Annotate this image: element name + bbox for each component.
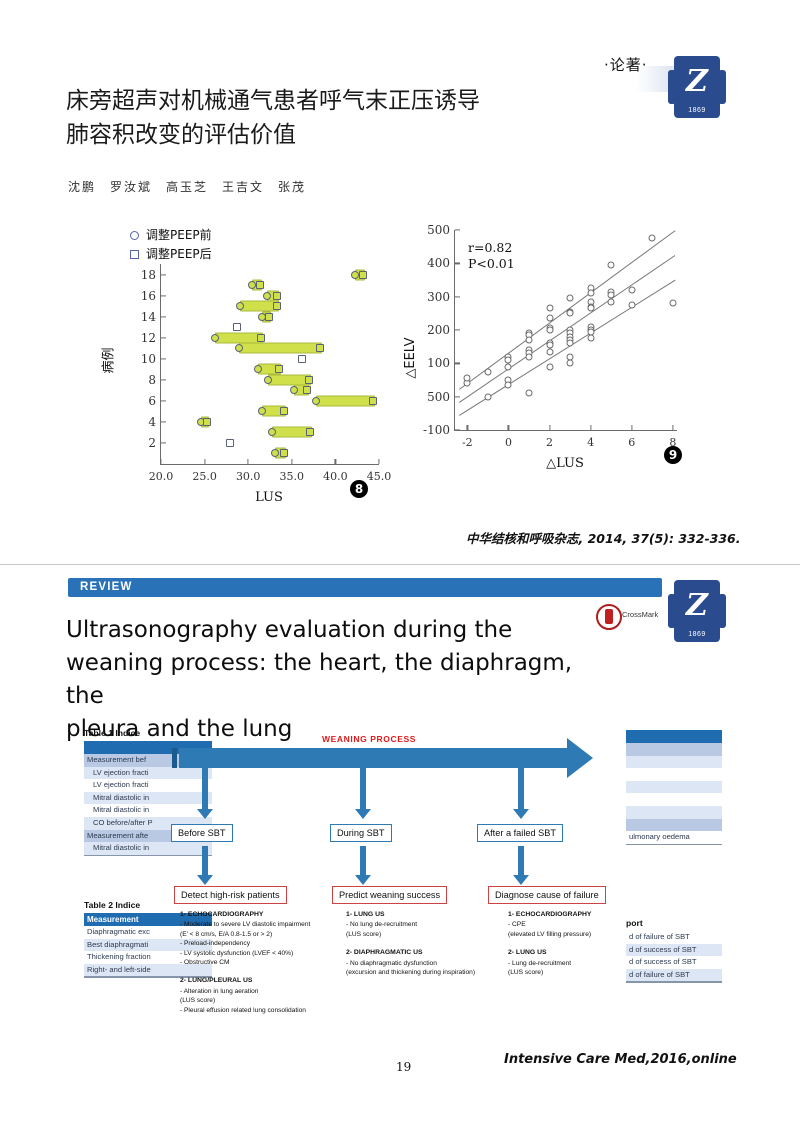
figure-8-ytick: 18 (141, 268, 161, 282)
figure-8-ytick: 16 (141, 289, 161, 303)
crossmark-badge[interactable]: CrossMark (596, 604, 666, 628)
down-arrow-5-icon (360, 846, 366, 876)
figure-8-ytick: 8 (148, 373, 161, 387)
figure-8-ytick: 2 (148, 436, 161, 450)
figure-9-data-point (505, 382, 512, 389)
figure-9-data-point (526, 337, 533, 344)
detail-line: - No diaphragmatic dysfunction (346, 959, 514, 968)
article-title: 床旁超声对机械通气患者呼气末正压诱导 肺容积改变的评估价值 (66, 84, 626, 152)
detail-column-3: 1- ECHOCARDIOGRAPHY- CPE(elevated LV fil… (508, 910, 628, 977)
stage-box-after-failed-sbt[interactable]: After a failed SBT (477, 824, 563, 842)
figure-8: 调整PEEP前 调整PEEP后 病例 2468101214161820.025.… (100, 218, 400, 514)
table-4-row: d of success of SBT (626, 956, 722, 969)
figure-9-ytick-mark (455, 396, 460, 397)
table-3-row (626, 781, 722, 794)
figure-9-r-value: r=0.82 (468, 240, 515, 256)
down-arrow-4-icon (202, 846, 208, 876)
figure-8-pair-bar (316, 395, 375, 406)
detail-heading: 1- ECHOCARDIOGRAPHY (180, 910, 340, 919)
detail-heading: 2- LUNG US (508, 948, 628, 957)
table-1-rule (84, 855, 212, 856)
figure-8-point-after (257, 334, 265, 342)
figure-8-point-after (226, 439, 234, 447)
page-number: 19 (396, 1060, 411, 1074)
table-3-clipped: ulmonary oedema (626, 730, 722, 845)
review-badge: REVIEW (68, 578, 662, 597)
figure-8-point-after (233, 323, 241, 331)
figure-9-data-point (546, 348, 553, 355)
figure-8-xtick: 30.0 (236, 464, 261, 483)
arrow-head-icon (567, 738, 593, 778)
figure-9-xtick-mark (549, 425, 550, 430)
figure-8-xtick-mark (160, 459, 161, 464)
figure-8-number: 8 (350, 480, 368, 498)
table-3-row (626, 793, 722, 806)
figure-8-point-after (280, 449, 288, 457)
figure-9: 500400300200100500-100-202468 r=0.82 P<0… (396, 218, 700, 514)
figure-8-ytick-mark (161, 358, 166, 359)
square-marker-icon (130, 250, 139, 259)
table-4-clipped: portd of failure of SBTd of success of S… (626, 918, 722, 983)
figure-8-point-after (298, 355, 306, 363)
figure-9-data-point (587, 290, 594, 297)
figure-9-ytick: 400 (427, 256, 455, 270)
figure-9-ytick-mark (455, 429, 460, 430)
down-arrow-6-icon (518, 846, 524, 876)
figure-9-xtick: 0 (505, 430, 512, 449)
figure-8-xtick-mark (378, 459, 379, 464)
figure-8-xtick-mark (291, 459, 292, 464)
detail-line: - Pleural effusion related lung consolid… (180, 1006, 340, 1015)
arrow-tail (172, 748, 177, 768)
figure-8-ytick: 10 (141, 352, 161, 366)
detail-line: - No lung de-recruitment (346, 920, 514, 929)
figure-8-point-before (271, 449, 279, 457)
table-1-row: Mitral diastolic in (84, 804, 212, 817)
article-authors: 沈鹏 罗汝斌 高玉芝 王吉文 张茂 (68, 178, 306, 195)
figure-8-point-before (211, 334, 219, 342)
figure-8-point-after (316, 344, 324, 352)
figure-9-data-point (546, 305, 553, 312)
figure-8-point-after (306, 428, 314, 436)
figure-9-data-point (649, 235, 656, 242)
figure-9-data-point (546, 315, 553, 322)
arrow-tip-icon (513, 809, 529, 819)
figure-9-data-point (567, 295, 574, 302)
figure-9-data-point (567, 340, 574, 347)
table-1-row: LV ejection fracti (84, 779, 212, 792)
weaning-process-label: WEANING PROCESS (322, 734, 416, 744)
table-3-row: ulmonary oedema (626, 831, 722, 844)
figure-9-ytick: 200 (427, 323, 455, 337)
detail-heading: 1- LUNG US (346, 910, 514, 919)
figure-9-data-point (628, 287, 635, 294)
figure-9-xtick-mark (467, 425, 468, 430)
detail-line: (E' < 8 cm/s, E/A 0.8-1.5 or > 2) (180, 930, 340, 939)
figure-8-xtick-mark (335, 459, 336, 464)
figure-8-ytick: 4 (148, 415, 161, 429)
detail-line: - CPE (508, 920, 628, 929)
page-root: ·论著· Z 1869 床旁超声对机械通气患者呼气末正压诱导 肺容积改变的评估价… (0, 0, 800, 1131)
legend-item-before: 调整PEEP前 (130, 226, 212, 245)
review-title: Ultrasonography evaluation during the we… (66, 614, 586, 746)
article-citation: 中华结核和呼吸杂志, 2014, 37(5): 332-336. (466, 528, 740, 547)
goal-box-detect-high-risk[interactable]: Detect high-risk patients (174, 886, 287, 904)
table-1-row: Mitral diastolic in (84, 792, 212, 805)
article-title-line2: 肺容积改变的评估价值 (66, 118, 626, 152)
stage-box-during-sbt[interactable]: During SBT (330, 824, 392, 842)
figure-9-xtick-mark (508, 425, 509, 430)
arrow-tip-icon (513, 875, 529, 885)
logo-letter-icon: Z (674, 584, 720, 628)
figure-8-point-before (351, 271, 359, 279)
figure-9-data-point (484, 368, 491, 375)
table-1-caption: Table 1 Indice (84, 728, 212, 738)
figure-9-data-point (526, 390, 533, 397)
figure-9-p-value: P<0.01 (468, 256, 515, 272)
figure-8-point-before (312, 397, 320, 405)
figure-9-ylabel: △EELV (403, 338, 418, 379)
figure-8-legend: 调整PEEP前 调整PEEP后 (130, 226, 212, 264)
goal-box-diagnose-failure[interactable]: Diagnose cause of failure (488, 886, 606, 904)
figure-8-xlabel: LUS (160, 490, 378, 505)
figure-9-data-point (608, 262, 615, 269)
figure-8-xtick: 25.0 (192, 464, 217, 483)
figure-8-point-before (236, 302, 244, 310)
figure-9-xtick: 2 (546, 430, 553, 449)
review-title-line2: weaning process: the heart, the diaphrag… (66, 647, 586, 713)
detail-spacer (180, 967, 340, 976)
figure-8-plot-area: 2468101214161820.025.030.035.040.045.0 (160, 264, 379, 465)
detail-line: - Preload-independency (180, 939, 340, 948)
arrow-tip-icon (197, 809, 213, 819)
figure-8-point-after (359, 271, 367, 279)
figure-8-point-after (305, 376, 313, 384)
section-divider (0, 564, 800, 565)
figure-8-point-before (264, 376, 272, 384)
figure-9-ytick: 100 (427, 356, 455, 370)
logo-letter-icon: Z (674, 60, 720, 104)
detail-spacer (346, 939, 514, 948)
table-3-row (626, 819, 722, 832)
figure-9-data-point (484, 393, 491, 400)
figure-8-point-before (254, 365, 262, 373)
stage-box-before-sbt[interactable]: Before SBT (171, 824, 233, 842)
figure-9-xtick-mark (631, 425, 632, 430)
detail-heading: 2- LUNG/PLEURAL US (180, 976, 340, 985)
crossmark-inner-icon (605, 609, 613, 624)
detail-spacer (508, 939, 628, 948)
detail-heading: 1- ECHOCARDIOGRAPHY (508, 910, 628, 919)
detail-line: - Alteration in lung aeration (180, 987, 340, 996)
figure-8-pair-bar (239, 343, 321, 354)
logo-year: 1869 (674, 107, 720, 114)
figure-8-point-after (369, 397, 377, 405)
figure-8-point-after (275, 365, 283, 373)
figure-8-ytick: 6 (148, 394, 161, 408)
detail-column-1: 1- ECHOCARDIOGRAPHY- Moderate to severe … (180, 910, 340, 1015)
detail-line: (excursion and thickening during inspira… (346, 968, 514, 977)
table-3-rule (626, 844, 722, 845)
figure-8-point-after (273, 292, 281, 300)
detail-line: (LUS score) (508, 968, 628, 977)
arrow-tip-icon (355, 875, 371, 885)
figures-container: 调整PEEP前 调整PEEP后 病例 2468101214161820.025.… (100, 218, 700, 514)
figure-8-point-after (256, 281, 264, 289)
table-4-caption: port (626, 918, 722, 928)
figure-9-data-point (608, 298, 615, 305)
arrow-tip-icon (197, 875, 213, 885)
figure-9-xtick-mark (672, 425, 673, 430)
figure-8-xtick-mark (204, 459, 205, 464)
figure-9-data-point (669, 300, 676, 307)
review-title-line1: Ultrasonography evaluation during the (66, 614, 586, 647)
table-3-row (626, 756, 722, 769)
figure-9-ytick-mark (455, 329, 460, 330)
table-4-row: d of failure of SBT (626, 969, 722, 982)
journal-logo-top: Z 1869 (668, 56, 726, 118)
figure-8-point-before (268, 428, 276, 436)
figure-8-point-after (280, 407, 288, 415)
detail-line: - Lung de-recruitment (508, 959, 628, 968)
detail-line: (LUS score) (346, 930, 514, 939)
figure-9-xtick-mark (590, 425, 591, 430)
table-3-row (626, 743, 722, 756)
figure-9-ytick-mark (455, 229, 460, 230)
table-4-row: d of failure of SBT (626, 931, 722, 944)
figure-8-point-before (290, 386, 298, 394)
detail-line: - Obstructive CM (180, 958, 340, 967)
figure-8-xtick-mark (248, 459, 249, 464)
figure-9-data-point (567, 360, 574, 367)
review-badge-label: REVIEW (80, 581, 133, 593)
figure-8-ytick-mark (161, 379, 166, 380)
figure-8-xtick: 35.0 (280, 464, 305, 483)
figure-9-data-point (464, 375, 471, 382)
legend-label-before: 调整PEEP前 (146, 226, 212, 245)
figure-9-data-point (546, 363, 553, 370)
figure-9-ytick: -100 (423, 423, 455, 437)
goal-box-predict-weaning[interactable]: Predict weaning success (332, 886, 447, 904)
figure-9-ytick-mark (455, 263, 460, 264)
figure-8-xtick: 40.0 (323, 464, 348, 483)
figure-8-point-after (303, 386, 311, 394)
figure-9-data-point (526, 353, 533, 360)
figure-9-ytick-mark (455, 296, 460, 297)
figure-9-xtick: 4 (587, 430, 594, 449)
table-3-row (626, 806, 722, 819)
figure-9-data-point (587, 335, 594, 342)
figure-8-point-after (273, 302, 281, 310)
figure-8-point-before (263, 292, 271, 300)
figure-9-ytick-mark (455, 363, 460, 364)
detail-line: (LUS score) (180, 996, 340, 1005)
table-4-rule (626, 981, 722, 982)
table-4-row: d of success of SBT (626, 944, 722, 957)
figure-9-number: 9 (664, 446, 682, 464)
detail-line: (elevated LV filling pressure) (508, 930, 628, 939)
figure-8-xtick: 20.0 (149, 464, 174, 483)
detail-line: - Moderate to severe LV diastolic impair… (180, 920, 340, 929)
legend-label-after: 调整PEEP后 (146, 245, 212, 264)
figure-8-ytick-mark (161, 421, 166, 422)
down-arrow-1-icon (202, 768, 208, 810)
figure-8-ytick-mark (161, 295, 166, 296)
down-arrow-3-icon (518, 768, 524, 810)
figure-9-ytick: 500 (427, 390, 455, 404)
review-citation: Intensive Care Med,2016,online (504, 1052, 737, 1067)
figure-8-point-before (258, 407, 266, 415)
table-1-row: LV ejection fracti (84, 767, 212, 780)
figure-8-point-before (248, 281, 256, 289)
figure-8-point-after (203, 418, 211, 426)
figure-8-ytick-mark (161, 442, 166, 443)
figure-8-ytick-mark (161, 274, 166, 275)
detail-heading: 2- DIAPHRAGMATIC US (346, 948, 514, 957)
figure-8-pair-bar (215, 332, 263, 343)
journal-logo-bottom: Z 1869 (668, 580, 726, 642)
detail-line: - LV systolic dysfunction (LVEF < 40%) (180, 949, 340, 958)
table-1-row: Mitral diastolic in (84, 842, 212, 855)
figure-8-point-before (235, 344, 243, 352)
table-3-row (626, 730, 722, 743)
figure-9-ytick: 500 (427, 223, 455, 237)
figure-9-ytick: 300 (427, 290, 455, 304)
down-arrow-2-icon (360, 768, 366, 810)
weaning-diagram: Table 1 IndiceMeasurement befLV ejection… (84, 728, 716, 1046)
figure-9-data-point (587, 305, 594, 312)
circle-marker-icon (130, 231, 139, 240)
crossmark-icon (596, 604, 622, 630)
arrow-tip-icon (355, 809, 371, 819)
figure-8-ytick-mark (161, 400, 166, 401)
figure-9-data-point (505, 363, 512, 370)
figure-8-ytick-mark (161, 316, 166, 317)
figure-8-xtick: 45.0 (367, 464, 392, 483)
legend-item-after: 调整PEEP后 (130, 245, 212, 264)
detail-column-2: 1- LUNG US- No lung de-recruitment(LUS s… (346, 910, 514, 977)
figure-9-stats: r=0.82 P<0.01 (468, 240, 515, 272)
logo-year: 1869 (674, 631, 720, 638)
figure-9-xtick: -2 (462, 430, 473, 449)
weaning-process-arrow (179, 748, 569, 768)
table-3-row (626, 768, 722, 781)
figure-8-ylabel: 病例 (98, 348, 117, 374)
figure-8-point-after (265, 313, 273, 321)
figure-8-ytick-mark (161, 337, 166, 338)
figure-8-ytick: 14 (141, 310, 161, 324)
figure-9-xtick: 6 (628, 430, 635, 449)
crossmark-label: CrossMark (622, 610, 658, 619)
article-title-line1: 床旁超声对机械通气患者呼气末正压诱导 (66, 84, 626, 118)
figure-8-ytick: 12 (141, 331, 161, 345)
figure-9-data-point (546, 327, 553, 334)
figure-9-data-point (628, 302, 635, 309)
figure-9-xlabel: △LUS (454, 456, 676, 471)
figure-9-data-point (567, 310, 574, 317)
